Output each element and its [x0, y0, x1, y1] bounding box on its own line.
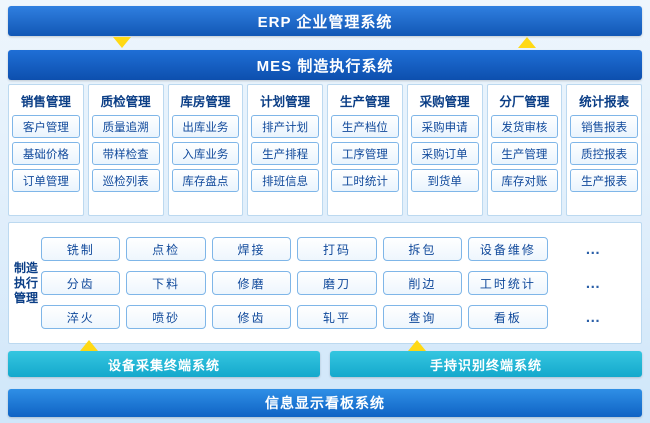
module-item[interactable]: 库存盘点 — [172, 169, 240, 192]
arrow-up-handheld-icon — [408, 340, 426, 351]
device-terminal-banner: 设备采集终端系统 — [8, 351, 320, 377]
execution-panel-label: 制造执行管理 — [9, 261, 39, 306]
execution-cell[interactable]: 拆包 — [383, 237, 462, 261]
erp-banner: ERP 企业管理系统 — [8, 6, 642, 36]
module-item[interactable]: 生产报表 — [570, 169, 638, 192]
arrow-up-device-icon — [80, 340, 98, 351]
arrow-up-right-icon — [518, 37, 536, 48]
execution-cell[interactable]: 看板 — [468, 305, 547, 329]
module-item[interactable]: 排班信息 — [251, 169, 319, 192]
module-item[interactable]: 巡检列表 — [92, 169, 160, 192]
execution-panel: 制造执行管理 铣制 点检 焊接 打码 拆包 设备维修 … 分齿 下料 修磨 磨刀… — [8, 222, 642, 344]
execution-cell[interactable]: 削边 — [383, 271, 462, 295]
module-item[interactable]: 带样检查 — [92, 142, 160, 165]
module-item[interactable]: 客户管理 — [12, 115, 80, 138]
execution-cell[interactable]: 工时统计 — [468, 271, 547, 295]
module-item[interactable]: 发货审核 — [491, 115, 559, 138]
execution-more-indicator: … — [554, 305, 633, 329]
execution-cell[interactable]: 下料 — [126, 271, 205, 295]
module-title: 质检管理 — [101, 91, 151, 110]
module-item[interactable]: 生产档位 — [331, 115, 399, 138]
module-item[interactable]: 工时统计 — [331, 169, 399, 192]
module-column-branch-factory[interactable]: 分厂管理 发货审核 生产管理 库存对账 — [487, 84, 563, 216]
module-column-plan[interactable]: 计划管理 排产计划 生产排程 排班信息 — [247, 84, 323, 216]
module-column-purchase[interactable]: 采购管理 采购申请 采购订单 到货单 — [407, 84, 483, 216]
module-title: 计划管理 — [260, 91, 310, 110]
module-item[interactable]: 工序管理 — [331, 142, 399, 165]
module-column-quality[interactable]: 质检管理 质量追溯 带样检查 巡检列表 — [88, 84, 164, 216]
module-column-sales[interactable]: 销售管理 客户管理 基础价格 订单管理 — [8, 84, 84, 216]
module-item[interactable]: 出库业务 — [172, 115, 240, 138]
execution-cell[interactable]: 分齿 — [41, 271, 120, 295]
module-item[interactable]: 采购订单 — [411, 142, 479, 165]
module-title: 销售管理 — [21, 91, 71, 110]
module-item[interactable]: 质控报表 — [570, 142, 638, 165]
module-title: 统计报表 — [579, 91, 629, 110]
execution-more-indicator: … — [554, 271, 633, 295]
execution-cell[interactable]: 修磨 — [212, 271, 291, 295]
module-item[interactable]: 销售报表 — [570, 115, 638, 138]
module-title: 库房管理 — [180, 91, 230, 110]
module-title: 采购管理 — [420, 91, 470, 110]
execution-cell[interactable]: 设备维修 — [468, 237, 547, 261]
diagram-root: ERP 企业管理系统 MES 制造执行系统 销售管理 客户管理 基础价格 订单管… — [0, 0, 650, 423]
arrow-down-left-icon — [113, 37, 131, 48]
module-item[interactable]: 订单管理 — [12, 169, 80, 192]
execution-cell[interactable]: 焊接 — [212, 237, 291, 261]
module-item[interactable]: 采购申请 — [411, 115, 479, 138]
module-item[interactable]: 质量追溯 — [92, 115, 160, 138]
handheld-terminal-banner: 手持识别终端系统 — [330, 351, 642, 377]
module-column-warehouse[interactable]: 库房管理 出库业务 入库业务 库存盘点 — [168, 84, 244, 216]
module-item[interactable]: 生产排程 — [251, 142, 319, 165]
module-title: 分厂管理 — [499, 91, 549, 110]
execution-cell[interactable]: 点检 — [126, 237, 205, 261]
module-item[interactable]: 基础价格 — [12, 142, 80, 165]
module-item[interactable]: 到货单 — [411, 169, 479, 192]
module-item[interactable]: 生产管理 — [491, 142, 559, 165]
execution-cell[interactable]: 修齿 — [212, 305, 291, 329]
module-item[interactable]: 库存对账 — [491, 169, 559, 192]
execution-cell[interactable]: 喷砂 — [126, 305, 205, 329]
execution-grid: 铣制 点检 焊接 打码 拆包 设备维修 … 分齿 下料 修磨 磨刀 削边 工时统… — [39, 230, 641, 336]
execution-cell[interactable]: 查询 — [383, 305, 462, 329]
mes-banner: MES 制造执行系统 — [8, 50, 642, 80]
execution-cell[interactable]: 磨刀 — [297, 271, 376, 295]
module-item[interactable]: 排产计划 — [251, 115, 319, 138]
module-column-reports[interactable]: 统计报表 销售报表 质控报表 生产报表 — [566, 84, 642, 216]
execution-cell[interactable]: 淬火 — [41, 305, 120, 329]
module-item[interactable]: 入库业务 — [172, 142, 240, 165]
execution-cell[interactable]: 打码 — [297, 237, 376, 261]
execution-cell[interactable]: 轧平 — [297, 305, 376, 329]
info-board-banner: 信息显示看板系统 — [8, 389, 642, 417]
execution-more-indicator: … — [554, 237, 633, 261]
module-column-production[interactable]: 生产管理 生产档位 工序管理 工时统计 — [327, 84, 403, 216]
module-title: 生产管理 — [340, 91, 390, 110]
module-columns: 销售管理 客户管理 基础价格 订单管理 质检管理 质量追溯 带样检查 巡检列表 … — [8, 84, 642, 216]
execution-cell[interactable]: 铣制 — [41, 237, 120, 261]
